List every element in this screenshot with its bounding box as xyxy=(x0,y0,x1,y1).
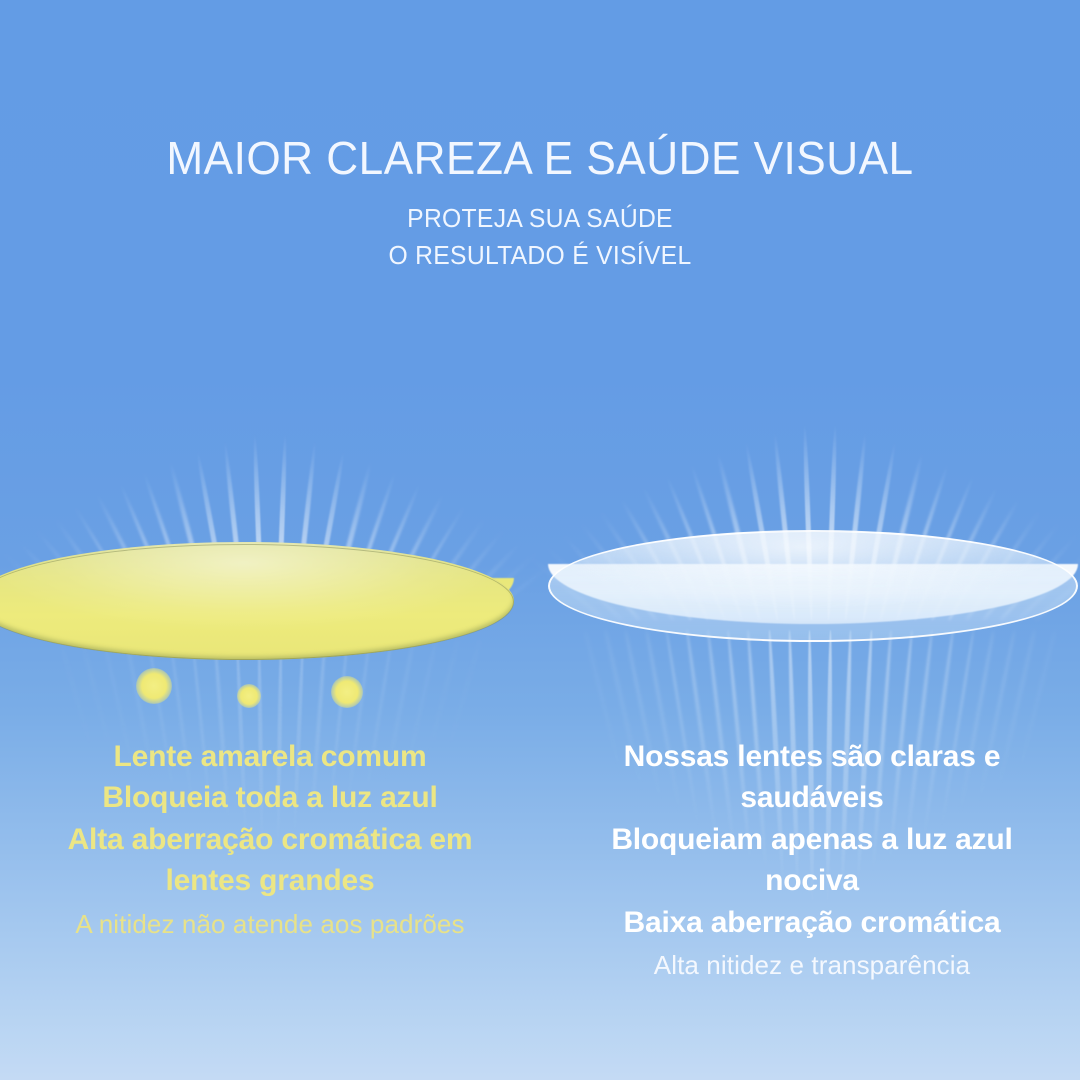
clear-lens-face xyxy=(548,530,1078,642)
product-comparison-poster: MAIOR CLAREZA E SAÚDE VISUAL PROTEJA SUA… xyxy=(0,0,1080,1080)
caption-right-line: Nossas lentes são claras e xyxy=(548,736,1076,777)
caption-left-line: Lente amarela comum xyxy=(6,736,534,777)
caption-right-note: Alta nitidez e transparência xyxy=(548,947,1076,983)
caption-left-note: A nitidez não atende aos padrões xyxy=(6,906,534,942)
caption-right: Nossas lentes são claras e saudáveis Blo… xyxy=(548,736,1076,983)
glow-dot xyxy=(237,684,261,708)
caption-left: Lente amarela comum Bloqueia toda a luz … xyxy=(6,736,534,942)
subtitle-line-2: O RESULTADO É VISÍVEL xyxy=(27,237,1053,275)
headline-block: MAIOR CLAREZA E SAÚDE VISUAL PROTEJA SUA… xyxy=(0,134,1080,275)
page-title: MAIOR CLAREZA E SAÚDE VISUAL xyxy=(22,134,1059,184)
caption-right-line: saudáveis xyxy=(548,777,1076,818)
caption-right-line: Bloqueiam apenas a luz azul xyxy=(548,819,1076,860)
caption-left-line: Bloqueia toda a luz azul xyxy=(6,777,534,818)
glow-dot xyxy=(136,668,172,704)
glow-dot xyxy=(331,676,363,708)
caption-left-line: lentes grandes xyxy=(6,860,534,901)
caption-right-line: Baixa aberração cromática xyxy=(548,902,1076,943)
yellow-lens xyxy=(0,542,514,668)
caption-left-line: Alta aberração cromática em xyxy=(6,819,534,860)
caption-right-line: nociva xyxy=(548,860,1076,901)
yellow-lens-rim xyxy=(0,544,514,660)
subtitle-line-1: PROTEJA SUA SAÚDE xyxy=(27,200,1053,238)
clear-lens xyxy=(548,530,1078,650)
page-subtitle: PROTEJA SUA SAÚDE O RESULTADO É VISÍVEL xyxy=(27,200,1053,275)
